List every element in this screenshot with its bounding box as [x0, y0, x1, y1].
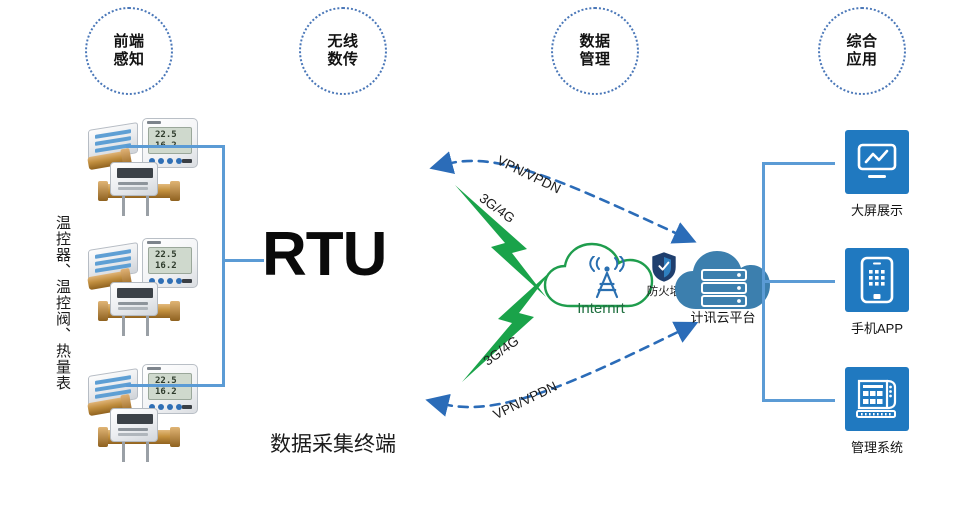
heat-meter-screen [117, 168, 153, 178]
thermostat-controller-icon: 22.5 16.2 [142, 364, 198, 414]
stage-label-line2: 管理 [579, 51, 610, 69]
heat-meter-probe-icon [122, 196, 125, 216]
stage-label-line2: 应用 [846, 51, 877, 69]
stage-circle-perception: 前端 感知 [85, 7, 173, 95]
vpn-link-bottom [443, 330, 682, 407]
thermostat-brand-mark [147, 241, 161, 244]
vpn-label-top: VPN/VPDN [495, 153, 564, 197]
network-topology-diagram: 前端 感知 无线 数传 数据 管理 综合 应用 温控器、温控阀、热量表 22.5… [0, 0, 964, 505]
thermostat-lcd-screen: 22.5 16.2 [148, 127, 192, 154]
management-document-icon [854, 378, 900, 420]
thermostat-ir-port [182, 159, 192, 163]
stage-label-line2: 数传 [327, 51, 358, 69]
device-cluster-top: 22.5 16.2 [86, 112, 212, 208]
cloud-platform-caption: 计讯云平台 [662, 307, 784, 326]
stage-circle-data-management: 数据 管理 [551, 7, 639, 95]
thermostat-reading-secondary: 16.2 [155, 262, 177, 271]
wire-device-top-to-bus [126, 145, 225, 148]
stage-label-line1: 无线 [327, 33, 358, 51]
heat-meter-icon [110, 408, 158, 442]
monitor-chart-icon [856, 142, 898, 182]
wire-bus-to-rtu [222, 259, 264, 262]
stage-circle-application: 综合 应用 [818, 7, 906, 95]
wire-platform-to-mobile [762, 280, 835, 283]
stage-label-line1: 数据 [579, 33, 610, 51]
heat-meter-icon [110, 162, 158, 196]
app-icon-management-system[interactable] [845, 367, 909, 431]
stage-label-line1: 前端 [113, 33, 144, 51]
heat-meter-screen [117, 414, 153, 424]
app-caption-mobile-app: 手机APP [817, 318, 937, 337]
heat-meter-probe-icon [146, 196, 149, 216]
heat-meter-label-strip [118, 302, 148, 305]
heat-meter-probe-icon [146, 316, 149, 336]
signal-tower-icon [584, 256, 630, 302]
thermostat-reading-primary: 22.5 [155, 131, 177, 140]
stage-label-line2: 感知 [113, 51, 144, 69]
stage-label-line1: 综合 [846, 33, 877, 51]
thermostat-controller-icon: 22.5 16.2 [142, 118, 198, 168]
thermostat-brand-mark [147, 367, 161, 370]
sensor-group-vertical-label: 温控器、温控阀、热量表 [52, 215, 73, 390]
thermostat-ir-port [182, 279, 192, 283]
device-cluster-bottom: 22.5 16.2 [86, 358, 212, 454]
app-icon-mobile-app[interactable] [845, 248, 909, 312]
wire-right-bus-upper [762, 162, 765, 281]
app-caption-big-screen: 大屏展示 [817, 200, 937, 219]
heat-meter-screen [117, 288, 153, 298]
bolt-3g4g-bottom [462, 270, 552, 382]
internet-caption: Internrt [548, 300, 654, 317]
stage-circle-wireless: 无线 数传 [299, 7, 387, 95]
rtu-label: RTU [262, 224, 386, 286]
smartphone-icon [860, 256, 894, 304]
thermostat-brand-mark [147, 121, 161, 124]
heat-meter-probe-icon [122, 316, 125, 336]
bolt-label-top: 3G/4G [477, 190, 518, 226]
app-icon-big-screen[interactable] [845, 130, 909, 194]
heat-meter-label-strip [118, 182, 148, 185]
rtu-caption: 数据采集终端 [270, 428, 396, 458]
wire-bus-to-big-screen [762, 162, 835, 165]
vpn-label-bottom: VPN/VPDN [491, 378, 560, 422]
thermostat-controller-icon: 22.5 16.2 [142, 238, 198, 288]
thermostat-lcd-screen: 22.5 16.2 [148, 247, 192, 274]
heat-meter-probe-icon [146, 442, 149, 462]
bolt-label-bottom: 3G/4G [481, 333, 522, 369]
wire-right-bus-lower [762, 280, 765, 402]
thermostat-reading-primary: 22.5 [155, 251, 177, 260]
cloud-platform-icon [672, 243, 772, 315]
wire-bus-to-management [762, 399, 835, 402]
wire-left-bus-vertical [222, 145, 225, 387]
heat-meter-icon [110, 282, 158, 316]
thermostat-ir-port [182, 405, 192, 409]
wire-device-bottom-to-bus [126, 384, 225, 387]
app-caption-management-system: 管理系统 [817, 437, 937, 456]
heat-meter-probe-icon [122, 442, 125, 462]
heat-meter-label-strip [118, 428, 148, 431]
device-cluster-middle: 22.5 16.2 [86, 232, 212, 328]
thermostat-reading-secondary: 16.2 [155, 388, 177, 397]
